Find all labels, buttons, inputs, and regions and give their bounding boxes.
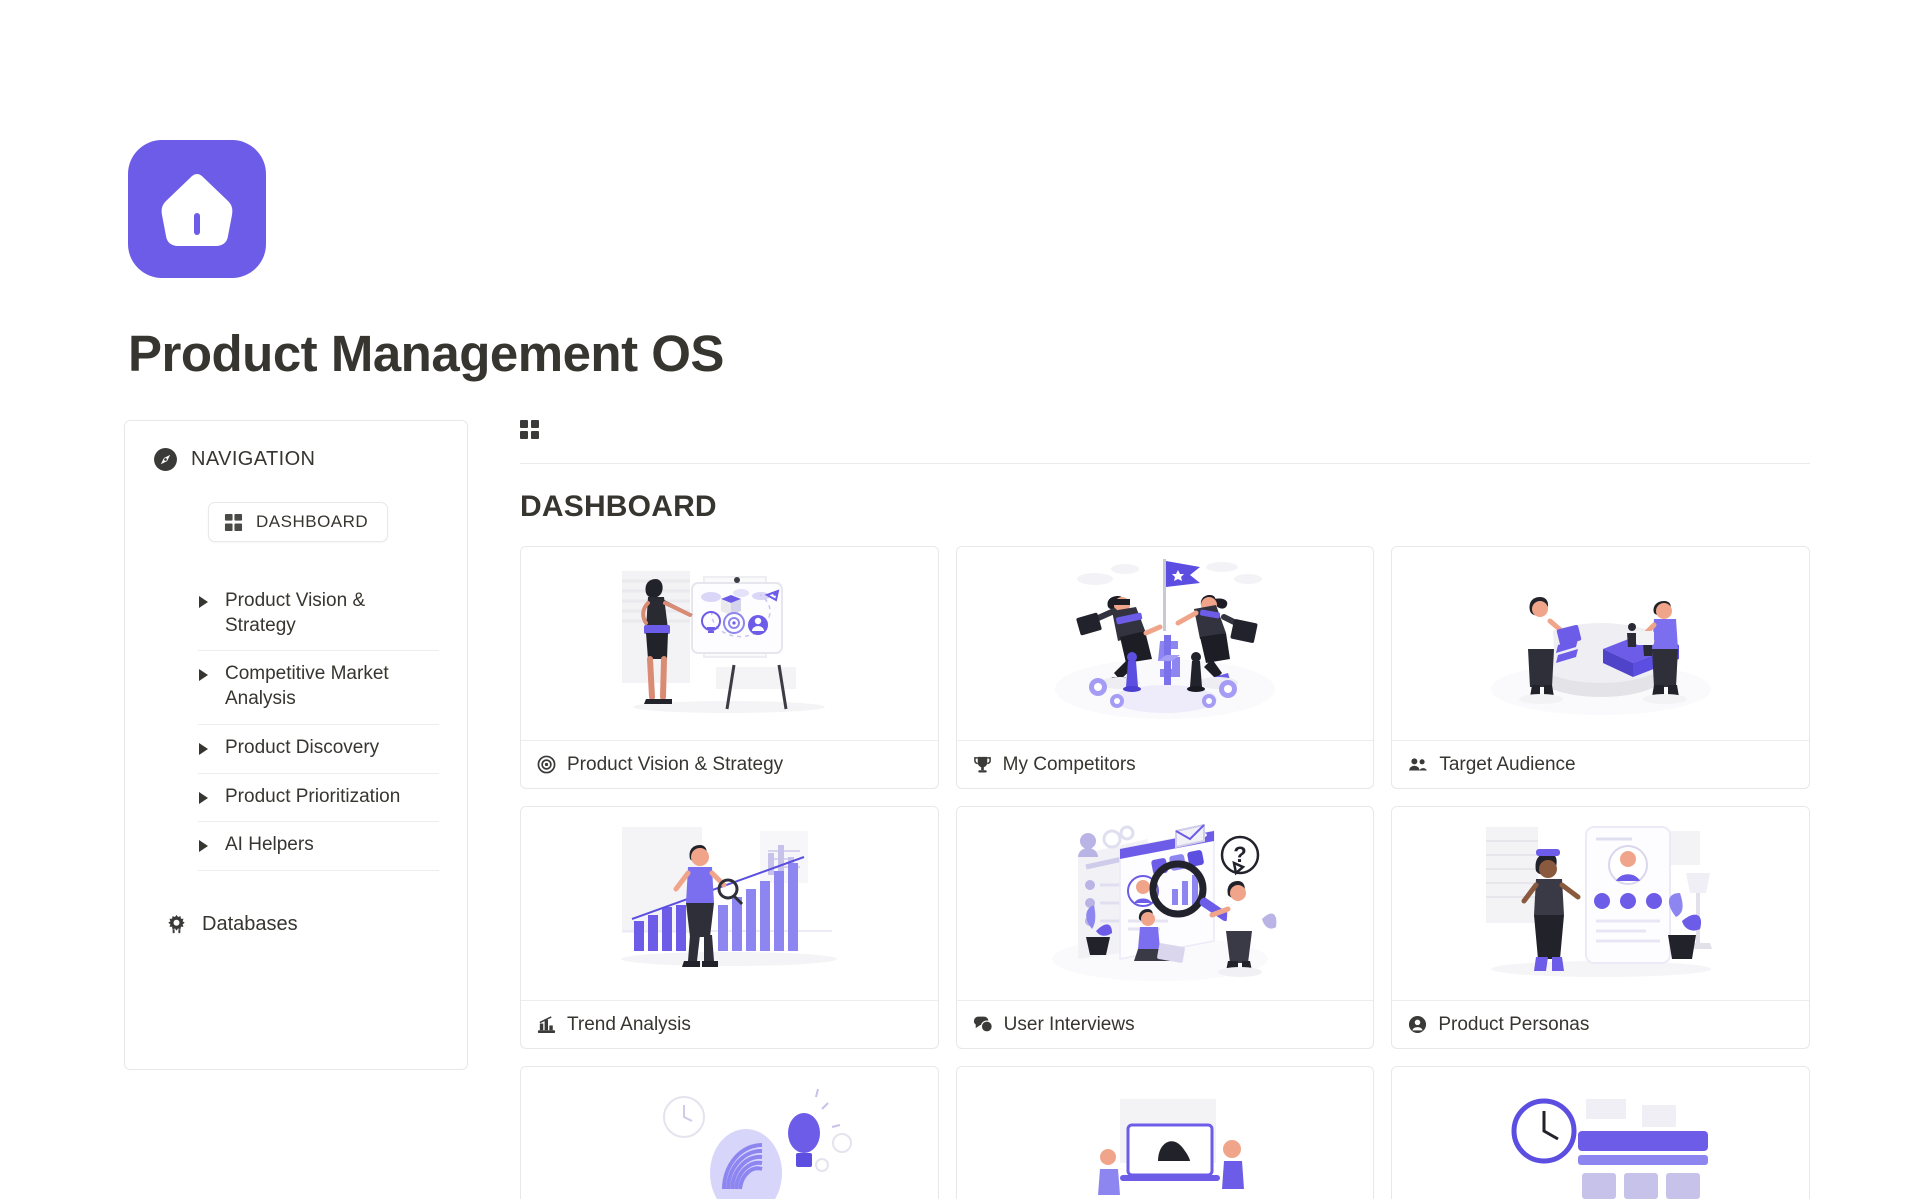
main-content: DASHBOARD: [468, 420, 1920, 1199]
sidebar-item-product-discovery[interactable]: Product Discovery: [198, 725, 439, 774]
dashboard-card-row3-1[interactable]: [520, 1066, 939, 1199]
target-icon: [537, 755, 556, 774]
card-label: User Interviews: [1004, 1014, 1135, 1036]
dashboard-card-grid: Product Vision & Strategy: [520, 546, 1810, 1199]
sidebar-item-label: Product Discovery: [225, 736, 379, 761]
people-icon: [1408, 755, 1428, 775]
dashboard-card-row3-3[interactable]: [1391, 1066, 1810, 1199]
grid-icon[interactable]: [520, 420, 540, 440]
card-footer: Trend Analysis: [521, 1000, 938, 1048]
card-footer: Product Personas: [1392, 1000, 1809, 1048]
dashboard-card-row3-2[interactable]: [956, 1066, 1375, 1199]
sidebar-dashboard-label: DASHBOARD: [256, 512, 368, 532]
card-illustration-pie-chart-segment: [1392, 547, 1809, 740]
sidebar-item-competitive-market-analysis[interactable]: Competitive Market Analysis: [198, 651, 439, 724]
card-footer: User Interviews: [957, 1000, 1374, 1048]
card-label: Product Vision & Strategy: [567, 754, 783, 776]
sidebar-item-label: Product Vision & Strategy: [225, 589, 439, 638]
card-label: My Competitors: [1003, 754, 1136, 776]
triangle-right-icon[interactable]: [198, 662, 209, 686]
trophy-icon: [973, 755, 992, 774]
sidebar-databases-label: Databases: [202, 913, 298, 936]
card-illustration-growth-chart: [521, 807, 938, 1000]
card-footer: Product Vision & Strategy: [521, 740, 938, 788]
card-illustration-persona-profile: [1392, 807, 1809, 1000]
dashboard-card-trend-analysis[interactable]: Trend Analysis: [520, 806, 939, 1049]
card-footer: Target Audience: [1392, 740, 1809, 788]
dashboard-card-product-personas[interactable]: Product Personas: [1391, 806, 1810, 1049]
card-label: Target Audience: [1439, 754, 1575, 776]
app-page: Product Management OS NAVIGATION: [0, 0, 1920, 1199]
card-footer: My Competitors: [957, 740, 1374, 788]
content-area: NAVIGATION DASHBOARD Product Vision & St…: [0, 382, 1920, 1199]
dashboard-card-user-interviews[interactable]: ?: [956, 806, 1375, 1049]
card-illustration-fingerprint-idea: [521, 1067, 938, 1199]
card-illustration-laptop-presentation: [957, 1067, 1374, 1199]
bar-chart-icon: [537, 1015, 556, 1034]
card-illustration-user-research: ?: [957, 807, 1374, 1000]
card-illustration-presentation-whiteboard: [521, 547, 938, 740]
dashboard-card-target-audience[interactable]: Target Audience: [1391, 546, 1810, 789]
section-title: DASHBOARD: [520, 490, 1810, 524]
sidebar-item-ai-helpers[interactable]: AI Helpers: [198, 822, 439, 871]
card-label: Trend Analysis: [567, 1014, 691, 1036]
sidebar-nav-list: Product Vision & Strategy Competitive Ma…: [198, 578, 439, 871]
sidebar-dashboard-button[interactable]: DASHBOARD: [208, 502, 388, 542]
sidebar-item-label: Competitive Market Analysis: [225, 662, 439, 711]
card-illustration-clock-timeline: [1392, 1067, 1809, 1199]
sidebar-heading-label: NAVIGATION: [191, 448, 315, 471]
sidebar-heading: NAVIGATION: [153, 447, 439, 472]
grid-icon: [224, 513, 243, 532]
card-label: Product Personas: [1438, 1014, 1589, 1036]
triangle-right-icon[interactable]: [198, 785, 209, 809]
sidebar-item-databases[interactable]: Databases: [165, 913, 439, 936]
compass-icon: [153, 447, 178, 472]
sidebar-item-label: AI Helpers: [225, 833, 314, 858]
sidebar-item-label: Product Prioritization: [225, 785, 400, 810]
page-header: Product Management OS: [0, 0, 1920, 382]
dashboard-card-my-competitors[interactable]: My Competitors: [956, 546, 1375, 789]
triangle-right-icon[interactable]: [198, 736, 209, 760]
app-logo: [128, 140, 266, 278]
gear-icon: [165, 913, 188, 936]
triangle-right-icon[interactable]: [198, 833, 209, 857]
triangle-right-icon[interactable]: [198, 589, 209, 613]
page-title: Product Management OS: [128, 326, 1920, 382]
sidebar-item-product-prioritization[interactable]: Product Prioritization: [198, 774, 439, 823]
chat-icon: [973, 1015, 993, 1034]
main-toolbar: [520, 420, 1810, 464]
dashboard-card-product-vision-strategy[interactable]: Product Vision & Strategy: [520, 546, 939, 789]
sidebar: NAVIGATION DASHBOARD Product Vision & St…: [124, 420, 468, 1070]
svg-text:?: ?: [1233, 842, 1246, 867]
sidebar-item-product-vision-strategy[interactable]: Product Vision & Strategy: [198, 578, 439, 651]
card-illustration-competition-race: [957, 547, 1374, 740]
home-pentagon-icon: [158, 168, 236, 250]
user-circle-icon: [1408, 1015, 1427, 1034]
